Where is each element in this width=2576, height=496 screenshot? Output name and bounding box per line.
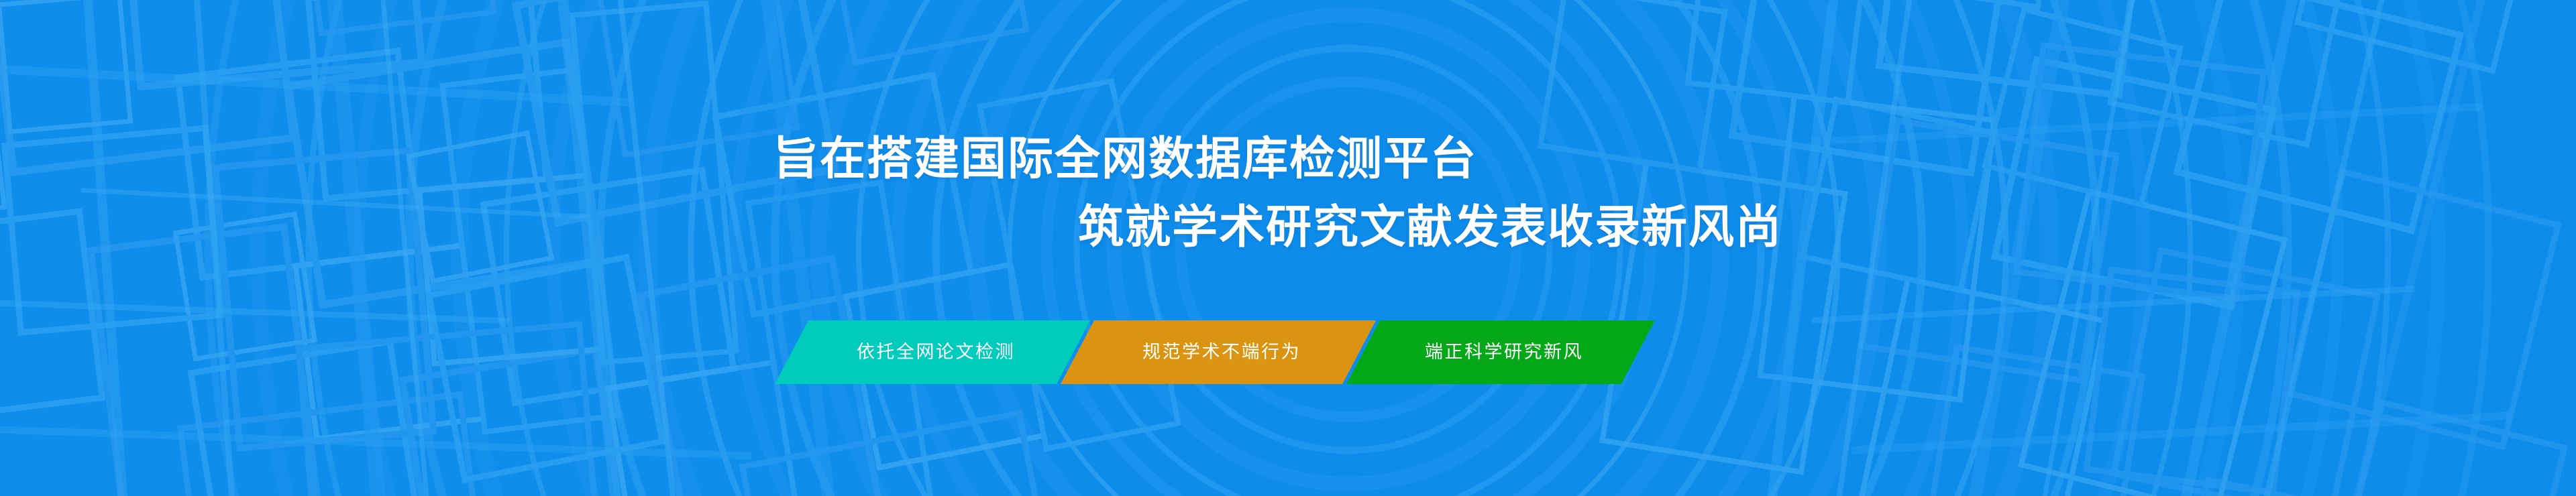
headline-line-1: 旨在搭建国际全网数据库检测平台	[773, 136, 1477, 182]
tab-research-ethos[interactable]: 端正科学研究新风	[1346, 320, 1655, 384]
headline-block: 旨在搭建国际全网数据库检测平台 筑就学术研究文献发表收录新风尚	[0, 0, 2576, 496]
headline-line-2: 筑就学术研究文献发表收录新风尚	[1078, 204, 1782, 250]
feature-tab-group: 依托全网论文检测 规范学术不端行为 端正科学研究新风	[775, 320, 1655, 384]
tab-research-ethos-label: 端正科学研究新风	[1425, 343, 1583, 361]
tab-academic-misconduct[interactable]: 规范学术不端行为	[1061, 320, 1376, 384]
hero-banner: 旨在搭建国际全网数据库检测平台 筑就学术研究文献发表收录新风尚 依托全网论文检测…	[0, 0, 2576, 496]
tab-academic-misconduct-label: 规范学术不端行为	[1142, 343, 1301, 361]
tab-paper-detection-label: 依托全网论文检测	[857, 343, 1015, 361]
tab-paper-detection[interactable]: 依托全网论文检测	[775, 320, 1090, 384]
